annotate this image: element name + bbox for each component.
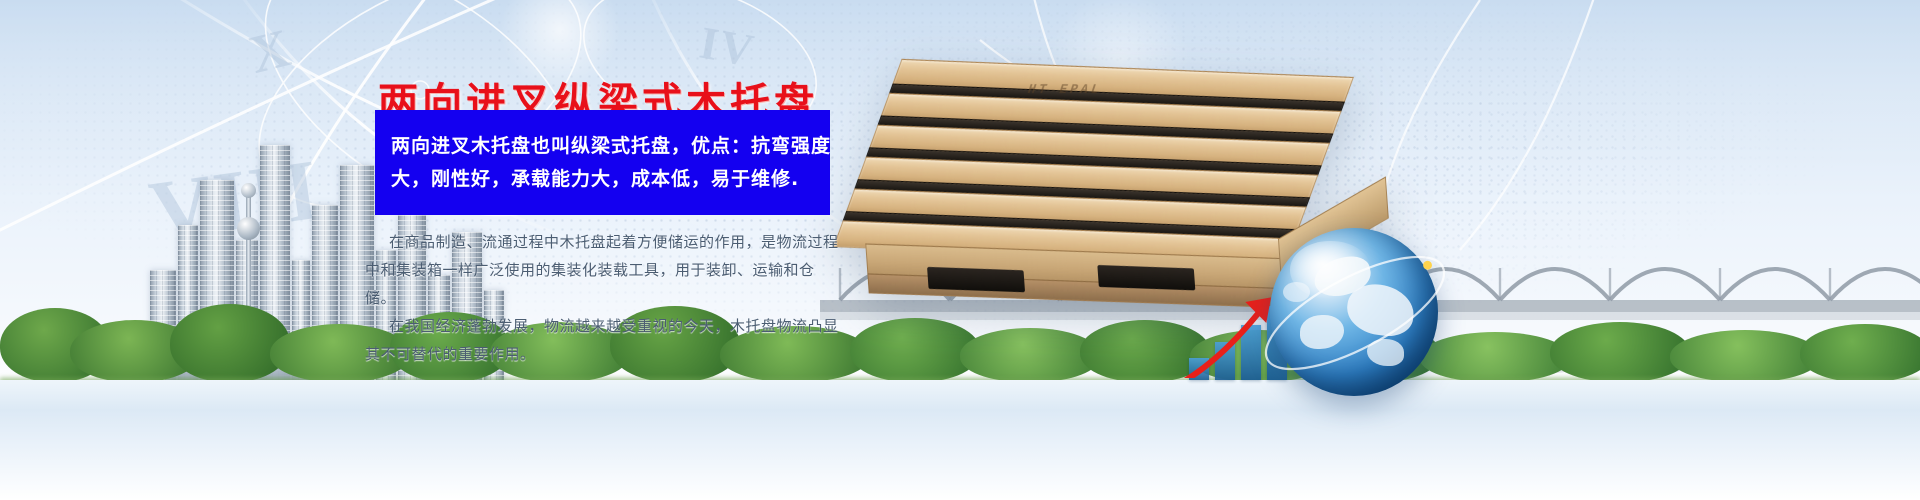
pallet-stamp-text: HT EPAL <box>1026 82 1105 98</box>
tv-tower-sphere-small <box>241 183 256 198</box>
banner-root: VIII XI X IV <box>0 0 1920 500</box>
paragraph-line-1: 在商品制造、流通过程中木托盘起着方便储运的作用，是物流过程中和集装箱一样广泛使用… <box>365 228 845 312</box>
water-surface <box>0 380 1920 500</box>
description-paragraph: 在商品制造、流通过程中木托盘起着方便储运的作用，是物流过程中和集装箱一样广泛使用… <box>365 228 845 368</box>
callout-line-1: 两向进叉木托盘也叫纵梁式托盘，优点：抗弯强度 <box>391 130 818 163</box>
watermark-roman-iv: IV <box>696 16 759 78</box>
paragraph-line-2: 在我国经济蓬勃发展，物流越来越受重视的今天，木托盘物流凸显其不可替代的重要作用。 <box>365 312 845 368</box>
fork-opening-left <box>927 267 1025 292</box>
globe-orbit-ring <box>1240 198 1470 428</box>
callout-line-2: 大，刚性好，承载能力大，成本低，易于维修. <box>391 163 818 196</box>
tv-tower-sphere <box>237 217 260 240</box>
highlight-callout-box: 两向进叉木托盘也叫纵梁式托盘，优点：抗弯强度 大，刚性好，承载能力大，成本低，易… <box>375 110 830 215</box>
